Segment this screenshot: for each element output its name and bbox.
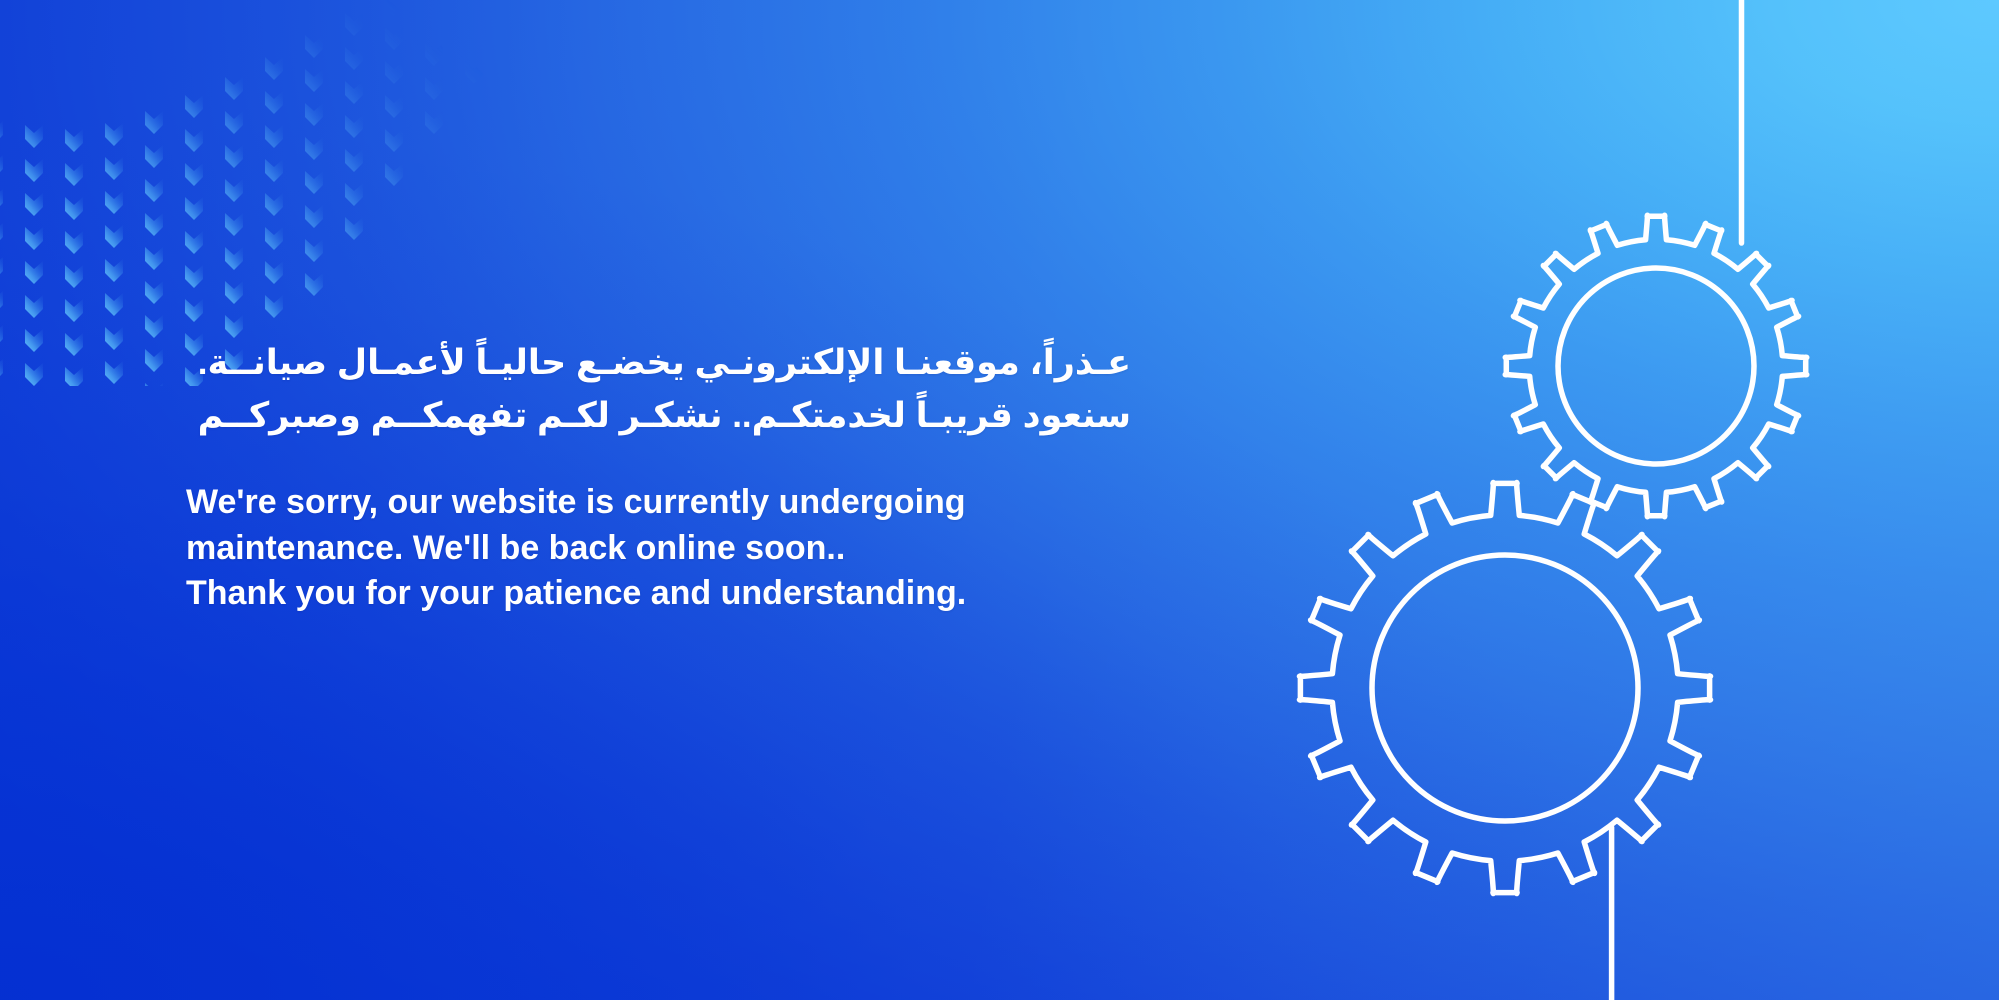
arabic-line-2: سنعود قريبـاً لخدمتكـم.. نشكـر لكـم تفهم… — [186, 389, 1131, 442]
english-line-1: We're sorry, our website is currently un… — [186, 480, 1166, 526]
arabic-message: عـذراً، موقعنـا الإلكترونـي يخضـع حاليـا… — [186, 336, 1131, 442]
english-message: We're sorry, our website is currently un… — [186, 480, 1166, 617]
arabic-line-1: عـذراً، موقعنـا الإلكترونـي يخضـع حاليـا… — [186, 336, 1131, 389]
english-line-3: Thank you for your patience and understa… — [186, 571, 1166, 617]
english-line-2: maintenance. We'll be back online soon.. — [186, 526, 1166, 572]
maintenance-page: عـذراً، موقعنـا الإلكترونـي يخضـع حاليـا… — [0, 0, 1999, 1000]
maintenance-message: عـذراً، موقعنـا الإلكترونـي يخضـع حاليـا… — [186, 336, 1166, 617]
